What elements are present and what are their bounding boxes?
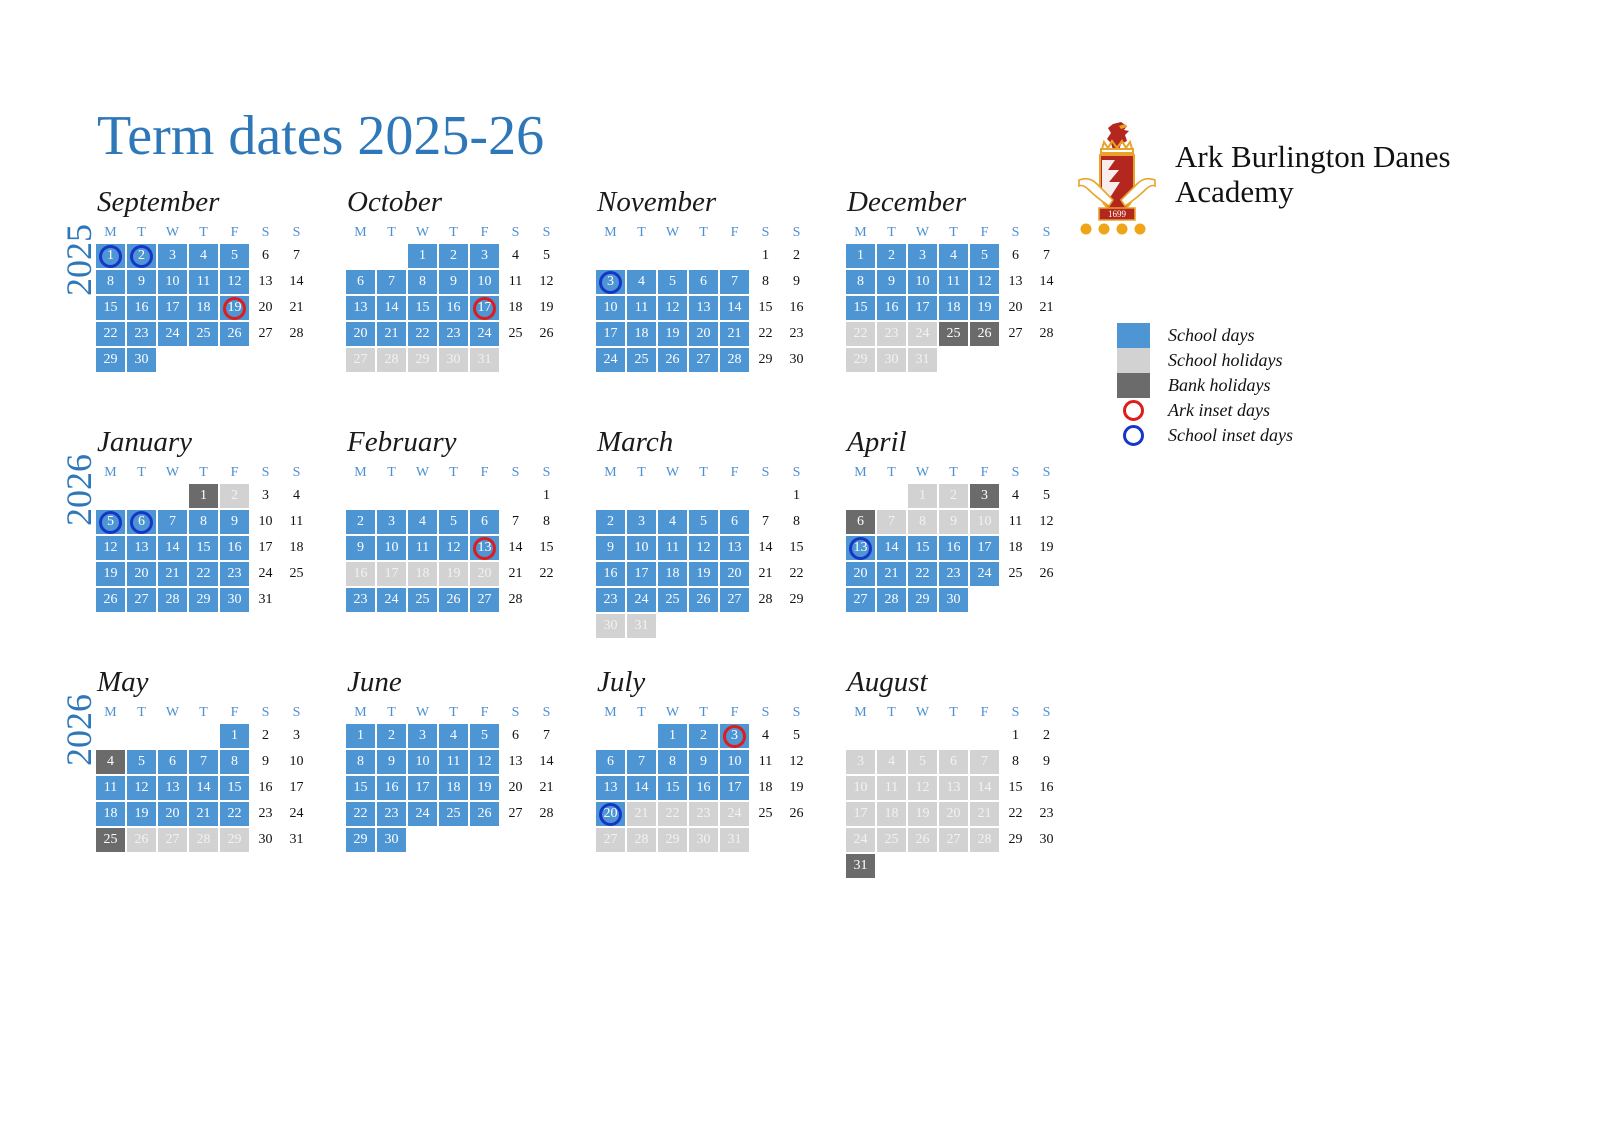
- day-number: 28: [166, 593, 180, 607]
- month-title: February: [347, 426, 570, 459]
- day-number: 2: [700, 729, 707, 743]
- weekday-label-4: F: [219, 225, 250, 241]
- day-cell-october-16: 16: [439, 296, 468, 320]
- day-cell-may-13: 13: [158, 776, 187, 800]
- day-cell-june-4: 4: [439, 724, 468, 748]
- day-cell-december-4: 4: [939, 244, 968, 268]
- weekday-label-0: M: [95, 705, 126, 721]
- day-number: 5: [543, 249, 550, 263]
- weekday-label-3: T: [688, 225, 719, 241]
- month-title: May: [97, 666, 320, 699]
- day-cells: 1234567891011121314151617181920212223242…: [345, 483, 570, 613]
- day-cell-january-31: 31: [251, 588, 280, 612]
- weekday-label-6: S: [281, 705, 312, 721]
- day-cell-june-27: 27: [501, 802, 530, 826]
- day-number: 28: [635, 833, 649, 847]
- day-number: 15: [540, 541, 554, 555]
- day-cell-march-2: 2: [596, 510, 625, 534]
- day-number: 21: [509, 567, 523, 581]
- weekday-label-0: M: [845, 465, 876, 481]
- day-cell-march-13: 13: [720, 536, 749, 560]
- day-cell-february-13: 13: [470, 536, 499, 560]
- day-number: 15: [354, 781, 368, 795]
- day-cell-october-25: 25: [501, 322, 530, 346]
- day-cell-january-10: 10: [251, 510, 280, 534]
- day-cell-october-11: 11: [501, 270, 530, 294]
- day-number: 27: [728, 593, 742, 607]
- day-cell-january-14: 14: [158, 536, 187, 560]
- day-cell-february-15: 15: [532, 536, 561, 560]
- day-number: 14: [166, 541, 180, 555]
- weekday-label-1: T: [626, 225, 657, 241]
- day-cell-may-2: 2: [251, 724, 280, 748]
- day-cell-may-3: 3: [282, 724, 311, 748]
- day-cell-may-17: 17: [282, 776, 311, 800]
- month-title: July: [597, 666, 820, 699]
- day-cells: 1234567891011121314151617181920212223242…: [345, 243, 570, 373]
- day-number: 6: [857, 515, 864, 529]
- day-cell-december-1: 1: [846, 244, 875, 268]
- day-number: 27: [135, 593, 149, 607]
- day-number: 17: [416, 781, 430, 795]
- day-number: 3: [607, 275, 614, 289]
- day-number: 18: [947, 301, 961, 315]
- day-cell-august-9: 9: [1032, 750, 1061, 774]
- day-number: 4: [293, 489, 300, 503]
- day-number: 22: [916, 567, 930, 581]
- weekday-label-4: F: [719, 465, 750, 481]
- day-cell-april-20: 20: [846, 562, 875, 586]
- day-number: 26: [104, 593, 118, 607]
- day-number: 27: [509, 807, 523, 821]
- day-cell-february-18: 18: [408, 562, 437, 586]
- month-january: JanuaryMTWTFSS12345678910111213141516171…: [95, 426, 320, 613]
- day-number: 11: [1009, 515, 1022, 529]
- day-cell-october-23: 23: [439, 322, 468, 346]
- empty-cell: [346, 484, 375, 508]
- day-cell-october-31: 31: [470, 348, 499, 372]
- day-cell-april-13: 13: [846, 536, 875, 560]
- weekday-label-3: T: [938, 465, 969, 481]
- day-number: 26: [447, 593, 461, 607]
- day-number: 10: [259, 515, 273, 529]
- day-cell-may-1: 1: [220, 724, 249, 748]
- day-cell-december-17: 17: [908, 296, 937, 320]
- day-cell-december-29: 29: [846, 348, 875, 372]
- day-number: 26: [540, 327, 554, 341]
- weekday-header-row: MTWTFSS: [95, 225, 320, 241]
- day-cell-april-4: 4: [1001, 484, 1030, 508]
- day-number: 13: [135, 541, 149, 555]
- day-cell-august-23: 23: [1032, 802, 1061, 826]
- day-number: 13: [166, 781, 180, 795]
- day-cell-august-15: 15: [1001, 776, 1030, 800]
- academy-logo: 1699 Ark Burlington Danes Academy: [1075, 120, 1451, 230]
- day-cell-july-20: 20: [596, 802, 625, 826]
- day-number: 15: [916, 541, 930, 555]
- day-cell-july-25: 25: [751, 802, 780, 826]
- day-cell-june-25: 25: [439, 802, 468, 826]
- day-cell-may-15: 15: [220, 776, 249, 800]
- day-number: 6: [262, 249, 269, 263]
- day-number: 22: [1009, 807, 1023, 821]
- day-cell-may-4: 4: [96, 750, 125, 774]
- day-cell-october-17: 17: [470, 296, 499, 320]
- day-cell-september-8: 8: [96, 270, 125, 294]
- day-number: 16: [385, 781, 399, 795]
- day-cell-september-30: 30: [127, 348, 156, 372]
- day-cell-january-19: 19: [96, 562, 125, 586]
- day-number: 18: [197, 301, 211, 315]
- day-number: 18: [666, 567, 680, 581]
- day-cell-november-4: 4: [627, 270, 656, 294]
- empty-cell: [846, 724, 875, 748]
- day-cell-march-24: 24: [627, 588, 656, 612]
- weekday-label-3: T: [938, 225, 969, 241]
- day-number: 20: [478, 567, 492, 581]
- day-number: 25: [290, 567, 304, 581]
- day-cell-june-6: 6: [501, 724, 530, 748]
- day-cell-february-20: 20: [470, 562, 499, 586]
- day-cell-july-27: 27: [596, 828, 625, 852]
- weekday-label-1: T: [876, 705, 907, 721]
- day-number: 13: [947, 781, 961, 795]
- day-cell-october-30: 30: [439, 348, 468, 372]
- day-number: 29: [354, 833, 368, 847]
- day-cell-june-26: 26: [470, 802, 499, 826]
- legend-label: Bank holidays: [1168, 375, 1270, 396]
- day-number: 5: [450, 515, 457, 529]
- day-cell-july-10: 10: [720, 750, 749, 774]
- day-cell-february-22: 22: [532, 562, 561, 586]
- day-number: 10: [854, 781, 868, 795]
- day-number: 5: [793, 729, 800, 743]
- day-number: 3: [169, 249, 176, 263]
- day-number: 4: [762, 729, 769, 743]
- day-number: 21: [197, 807, 211, 821]
- day-cell-december-9: 9: [877, 270, 906, 294]
- day-number: 9: [388, 755, 395, 769]
- day-number: 30: [385, 833, 399, 847]
- day-number: 15: [1009, 781, 1023, 795]
- weekday-label-4: F: [469, 705, 500, 721]
- day-number: 30: [135, 353, 149, 367]
- day-number: 30: [1040, 833, 1054, 847]
- day-number: 16: [259, 781, 273, 795]
- day-number: 24: [635, 593, 649, 607]
- day-number: 8: [200, 515, 207, 529]
- day-cell-july-17: 17: [720, 776, 749, 800]
- day-cell-march-12: 12: [689, 536, 718, 560]
- day-cell-february-28: 28: [501, 588, 530, 612]
- weekday-label-6: S: [531, 465, 562, 481]
- day-cell-april-27: 27: [846, 588, 875, 612]
- day-cell-june-5: 5: [470, 724, 499, 748]
- day-number: 14: [759, 541, 773, 555]
- day-number: 11: [759, 755, 772, 769]
- day-cell-march-15: 15: [782, 536, 811, 560]
- day-cells: 1234567891011121314151617181920212223242…: [595, 723, 820, 853]
- day-cell-march-25: 25: [658, 588, 687, 612]
- day-number: 22: [354, 807, 368, 821]
- weekday-header-row: MTWTFSS: [95, 465, 320, 481]
- day-cell-october-20: 20: [346, 322, 375, 346]
- day-number: 30: [947, 593, 961, 607]
- day-cell-september-19: 19: [220, 296, 249, 320]
- ark-inset-ring-icon: [1123, 400, 1144, 421]
- day-cell-june-29: 29: [346, 828, 375, 852]
- empty-cell: [689, 244, 718, 268]
- day-number: 14: [509, 541, 523, 555]
- day-cell-november-20: 20: [689, 322, 718, 346]
- day-number: 8: [857, 275, 864, 289]
- day-number: 1: [200, 489, 207, 503]
- day-number: 18: [509, 301, 523, 315]
- day-cell-august-7: 7: [970, 750, 999, 774]
- day-number: 3: [981, 489, 988, 503]
- day-cell-june-12: 12: [470, 750, 499, 774]
- day-number: 16: [1040, 781, 1054, 795]
- empty-cell: [720, 244, 749, 268]
- day-number: 7: [981, 755, 988, 769]
- day-cell-december-27: 27: [1001, 322, 1030, 346]
- day-cell-february-6: 6: [470, 510, 499, 534]
- day-number: 3: [481, 249, 488, 263]
- day-number: 29: [416, 353, 430, 367]
- day-number: 21: [978, 807, 992, 821]
- day-number: 18: [635, 327, 649, 341]
- day-number: 11: [635, 301, 648, 315]
- weekday-label-3: T: [688, 465, 719, 481]
- day-cell-january-13: 13: [127, 536, 156, 560]
- day-number: 29: [1009, 833, 1023, 847]
- day-number: 1: [919, 489, 926, 503]
- day-number: 6: [357, 275, 364, 289]
- day-cell-october-14: 14: [377, 296, 406, 320]
- day-cell-february-8: 8: [532, 510, 561, 534]
- day-cell-june-21: 21: [532, 776, 561, 800]
- weekday-label-1: T: [876, 465, 907, 481]
- day-number: 6: [481, 515, 488, 529]
- weekday-label-4: F: [469, 225, 500, 241]
- month-title: June: [347, 666, 570, 699]
- day-number: 3: [262, 489, 269, 503]
- day-cell-june-15: 15: [346, 776, 375, 800]
- day-cell-january-22: 22: [189, 562, 218, 586]
- day-number: 22: [790, 567, 804, 581]
- day-number: 7: [169, 515, 176, 529]
- day-cell-september-18: 18: [189, 296, 218, 320]
- day-number: 19: [790, 781, 804, 795]
- day-number: 28: [385, 353, 399, 367]
- day-number: 28: [197, 833, 211, 847]
- month-title: April: [847, 426, 1070, 459]
- day-cell-july-16: 16: [689, 776, 718, 800]
- legend-row-holiday: School holidays: [1117, 348, 1293, 373]
- day-cell-february-3: 3: [377, 510, 406, 534]
- day-number: 13: [354, 301, 368, 315]
- day-number: 12: [104, 541, 118, 555]
- weekday-label-5: S: [1000, 465, 1031, 481]
- day-number: 1: [857, 249, 864, 263]
- day-cell-may-6: 6: [158, 750, 187, 774]
- legend-swatch-school: [1117, 323, 1150, 348]
- day-number: 20: [135, 567, 149, 581]
- day-number: 1: [762, 249, 769, 263]
- day-number: 3: [293, 729, 300, 743]
- weekday-header-row: MTWTFSS: [595, 225, 820, 241]
- day-cell-march-28: 28: [751, 588, 780, 612]
- day-number: 20: [854, 567, 868, 581]
- day-cells: 1234567891011121314151617181920212223242…: [95, 243, 320, 373]
- weekday-label-1: T: [626, 465, 657, 481]
- day-cell-december-7: 7: [1032, 244, 1061, 268]
- legend-row-bank: Bank holidays: [1117, 373, 1293, 398]
- day-number: 12: [135, 781, 149, 795]
- day-number: 17: [978, 541, 992, 555]
- month-october: OctoberMTWTFSS12345678910111213141516171…: [345, 186, 570, 373]
- day-number: 14: [885, 541, 899, 555]
- day-cell-august-14: 14: [970, 776, 999, 800]
- day-number: 5: [700, 515, 707, 529]
- day-number: 17: [604, 327, 618, 341]
- day-number: 25: [416, 593, 430, 607]
- month-title: September: [97, 186, 320, 219]
- weekday-label-3: T: [188, 225, 219, 241]
- day-cell-april-5: 5: [1032, 484, 1061, 508]
- day-cell-april-7: 7: [877, 510, 906, 534]
- day-number: 4: [512, 249, 519, 263]
- day-cell-march-27: 27: [720, 588, 749, 612]
- day-number: 19: [228, 301, 242, 315]
- legend-row-ark: Ark inset days: [1117, 398, 1293, 423]
- day-cell-january-9: 9: [220, 510, 249, 534]
- empty-cell: [96, 484, 125, 508]
- weekday-label-3: T: [438, 465, 469, 481]
- day-number: 13: [1009, 275, 1023, 289]
- day-number: 30: [604, 619, 618, 633]
- day-cell-april-12: 12: [1032, 510, 1061, 534]
- day-cell-august-1: 1: [1001, 724, 1030, 748]
- weekday-label-2: W: [657, 705, 688, 721]
- day-cell-july-18: 18: [751, 776, 780, 800]
- day-cells: 1234567891011121314151617181920212223242…: [95, 483, 320, 613]
- day-number: 12: [478, 755, 492, 769]
- weekday-label-0: M: [845, 705, 876, 721]
- legend-label: School holidays: [1168, 350, 1283, 371]
- day-number: 6: [169, 755, 176, 769]
- empty-cell: [346, 244, 375, 268]
- day-cell-march-31: 31: [627, 614, 656, 638]
- day-number: 12: [228, 275, 242, 289]
- weekday-label-3: T: [438, 225, 469, 241]
- day-number: 28: [509, 593, 523, 607]
- day-number: 7: [762, 515, 769, 529]
- weekday-label-5: S: [750, 225, 781, 241]
- day-number: 9: [793, 275, 800, 289]
- weekday-label-6: S: [1031, 465, 1062, 481]
- academy-name: Ark Burlington Danes Academy: [1175, 140, 1451, 209]
- month-august: AugustMTWTFSS123456789101112131415161718…: [845, 666, 1070, 879]
- day-cell-march-30: 30: [596, 614, 625, 638]
- day-number: 27: [259, 327, 273, 341]
- month-september: SeptemberMTWTFSS123456789101112131415161…: [95, 186, 320, 373]
- day-cell-february-17: 17: [377, 562, 406, 586]
- day-number: 19: [916, 807, 930, 821]
- day-cell-may-19: 19: [127, 802, 156, 826]
- day-number: 11: [197, 275, 210, 289]
- day-cell-may-16: 16: [251, 776, 280, 800]
- day-number: 18: [759, 781, 773, 795]
- day-number: 9: [950, 515, 957, 529]
- day-number: 3: [388, 515, 395, 529]
- day-number: 8: [357, 755, 364, 769]
- day-cell-february-2: 2: [346, 510, 375, 534]
- day-number: 8: [231, 755, 238, 769]
- weekday-label-4: F: [969, 705, 1000, 721]
- day-cell-december-18: 18: [939, 296, 968, 320]
- day-number: 23: [135, 327, 149, 341]
- year-label-2026-row3: 2026: [58, 694, 100, 766]
- day-cell-june-10: 10: [408, 750, 437, 774]
- weekday-label-5: S: [750, 465, 781, 481]
- day-cell-september-16: 16: [127, 296, 156, 320]
- empty-cell: [377, 244, 406, 268]
- month-november: NovemberMTWTFSS1234567891011121314151617…: [595, 186, 820, 373]
- day-cell-may-26: 26: [127, 828, 156, 852]
- day-number: 21: [635, 807, 649, 821]
- weekday-label-0: M: [95, 225, 126, 241]
- day-cell-april-28: 28: [877, 588, 906, 612]
- day-cell-august-8: 8: [1001, 750, 1030, 774]
- day-number: 1: [107, 249, 114, 263]
- weekday-header-row: MTWTFSS: [95, 705, 320, 721]
- day-cell-september-29: 29: [96, 348, 125, 372]
- empty-cell: [596, 244, 625, 268]
- day-number: 2: [1043, 729, 1050, 743]
- day-cell-july-14: 14: [627, 776, 656, 800]
- legend-row-sinset: School inset days: [1117, 423, 1293, 448]
- day-cell-february-10: 10: [377, 536, 406, 560]
- day-number: 24: [604, 353, 618, 367]
- day-number: 5: [919, 755, 926, 769]
- month-may: MayMTWTFSS123456789101112131415161718192…: [95, 666, 320, 853]
- day-cell-january-29: 29: [189, 588, 218, 612]
- day-cell-may-10: 10: [282, 750, 311, 774]
- empty-cell: [877, 484, 906, 508]
- day-cell-july-30: 30: [689, 828, 718, 852]
- day-number: 20: [1009, 301, 1023, 315]
- day-number: 2: [607, 515, 614, 529]
- day-cell-january-16: 16: [220, 536, 249, 560]
- day-number: 13: [478, 541, 492, 555]
- day-cell-february-11: 11: [408, 536, 437, 560]
- weekday-label-0: M: [595, 465, 626, 481]
- day-cell-december-19: 19: [970, 296, 999, 320]
- day-cell-january-26: 26: [96, 588, 125, 612]
- day-number: 6: [700, 275, 707, 289]
- weekday-label-1: T: [876, 225, 907, 241]
- day-cell-september-7: 7: [282, 244, 311, 268]
- day-cell-december-16: 16: [877, 296, 906, 320]
- day-cell-october-13: 13: [346, 296, 375, 320]
- day-number: 22: [666, 807, 680, 821]
- day-number: 2: [450, 249, 457, 263]
- day-cell-june-28: 28: [532, 802, 561, 826]
- empty-cell: [658, 244, 687, 268]
- day-number: 23: [354, 593, 368, 607]
- day-number: 13: [854, 541, 868, 555]
